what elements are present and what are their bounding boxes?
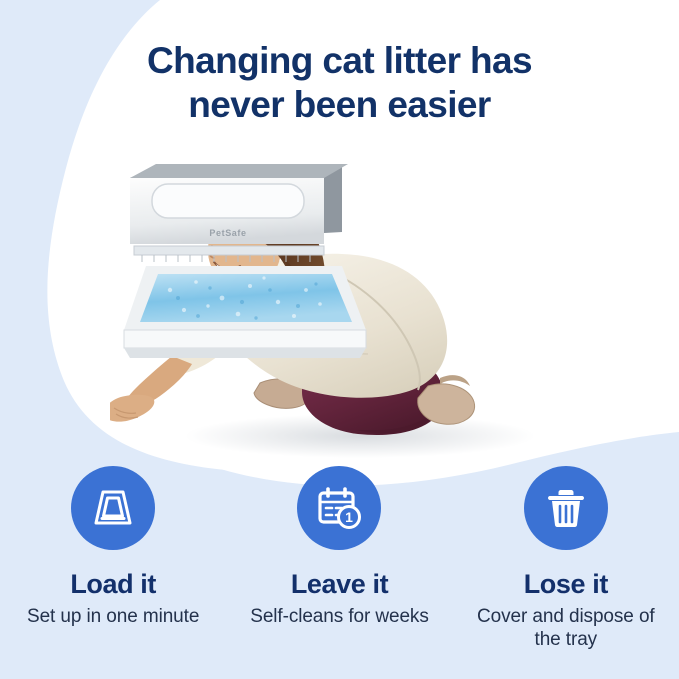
hood-panel [152,184,304,218]
brand-label: PetSafe [209,228,246,238]
hero-photo: PetSafe [110,140,570,460]
feature-load-it: Load it Set up in one minute [0,466,226,652]
infographic-canvas: Changing cat litter has never been easie… [0,0,679,679]
headline-line-1: Changing cat litter has [0,39,679,83]
feature-icon-circle-2: 1 [297,466,381,550]
feature-lose-it: Lose it Cover and dispose of the tray [453,466,679,652]
hood-top-edge [130,164,348,178]
calendar-one-icon: 1 [315,484,363,532]
feature-title-1: Load it [70,570,156,600]
trash-can-icon [543,485,589,531]
litter-crystals [140,274,352,322]
headline: Changing cat litter has never been easie… [0,39,679,126]
tray-front-lip [124,330,366,348]
litter-tray-icon [90,485,136,531]
feature-desc-1: Set up in one minute [27,605,199,629]
rake-bar [134,246,324,255]
feature-leave-it: 1 Leave it Self-cleans for weeks [226,466,452,652]
feature-title-3: Lose it [524,570,608,600]
feature-row: Load it Set up in one minute 1 [0,466,679,652]
feature-desc-3: Cover and dispose of the tray [466,605,666,652]
feature-desc-2: Self-cleans for weeks [250,605,428,629]
feature-icon-circle-3 [524,466,608,550]
hero-photo-illustration: PetSafe [110,140,570,460]
tray-base-shadow [124,348,366,358]
feature-icon-circle-1 [71,466,155,550]
headline-line-2: never been easier [0,83,679,127]
svg-text:1: 1 [346,509,354,525]
feature-title-2: Leave it [291,570,388,600]
